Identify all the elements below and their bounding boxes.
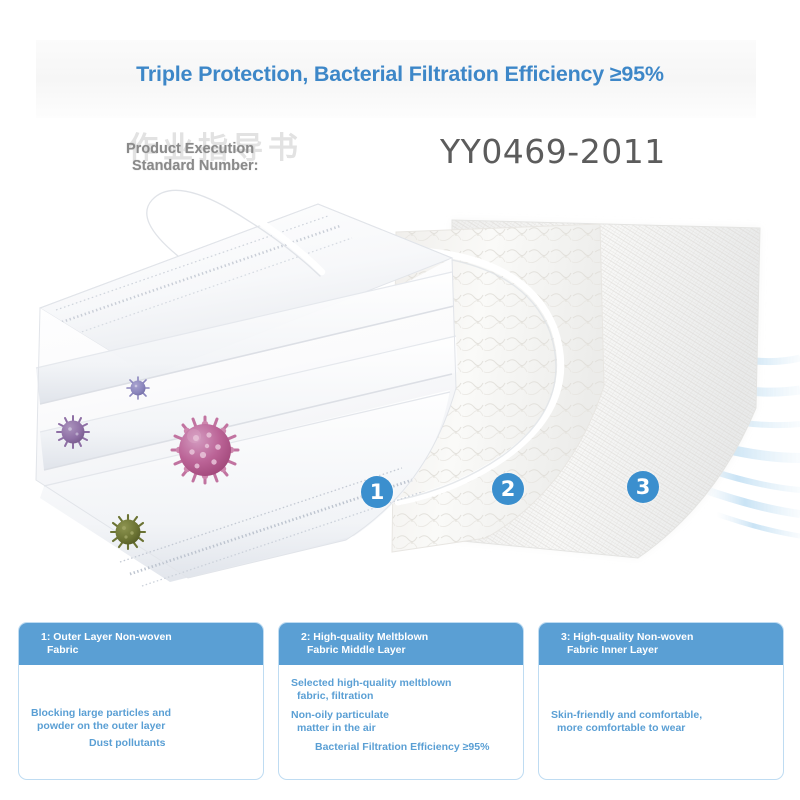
box-2-text-block-2: Non-oily particulate matter in the air — [291, 709, 389, 734]
box-2-text-2a: Non-oily particulate — [291, 709, 389, 721]
layer-marker-1: 1 — [361, 476, 393, 508]
layer-info-box-1-body: Blocking large particles and powder on t… — [19, 665, 263, 779]
virus-particle-small-violet — [127, 377, 149, 399]
infographic-page: Triple Protection, Bacterial Filtration … — [0, 0, 800, 800]
page-title: Triple Protection, Bacterial Filtration … — [0, 62, 800, 87]
box-2-text-block-3: Bacterial Filtration Efficiency ≥95% — [315, 741, 489, 754]
layer-info-box-3-heading: 3: High-quality Non-woven Fabric Inner L… — [539, 623, 783, 665]
box-1-text-block-2: Dust pollutants — [89, 737, 165, 750]
standard-number-label-line2: Standard Number: — [126, 158, 346, 175]
box-1-text-1b: powder on the outer layer — [31, 720, 171, 733]
box-3-heading-line1: 3: High-quality Non-woven — [561, 631, 693, 643]
box-1-text-1a: Blocking large particles and — [31, 707, 171, 719]
box-3-heading-line2: Fabric Inner Layer — [561, 644, 773, 657]
layer-info-box-2-heading: 2: High-quality Meltblown Fabric Middle … — [279, 623, 523, 665]
box-2-text-1a: Selected high-quality meltblown — [291, 677, 451, 689]
box-2-heading-line2: Fabric Middle Layer — [301, 644, 513, 657]
box-3-text-1b: more comfortable to wear — [551, 722, 702, 735]
box-1-text-block-1: Blocking large particles and powder on t… — [31, 707, 171, 732]
layer-info-box-2: 2: High-quality Meltblown Fabric Middle … — [278, 622, 524, 780]
box-3-text-block-1: Skin-friendly and comfortable, more comf… — [551, 709, 702, 734]
layer-info-box-3-body: Skin-friendly and comfortable, more comf… — [539, 665, 783, 779]
box-1-heading-line2: Fabric — [41, 644, 253, 657]
box-2-text-1b: fabric, filtration — [291, 690, 451, 703]
box-2-heading-line1: 2: High-quality Meltblown — [301, 631, 428, 643]
layer-info-box-3: 3: High-quality Non-woven Fabric Inner L… — [538, 622, 784, 780]
box-2-text-2b: matter in the air — [291, 722, 389, 735]
box-1-heading-line1: 1: Outer Layer Non-woven — [41, 631, 172, 643]
box-3-text-1a: Skin-friendly and comfortable, — [551, 709, 702, 721]
standard-number-label: Product Execution Standard Number: — [126, 141, 346, 175]
layer-info-boxes: 1: Outer Layer Non-woven Fabric Blocking… — [18, 622, 784, 780]
layer-marker-3: 3 — [627, 471, 659, 503]
layer-info-box-1: 1: Outer Layer Non-woven Fabric Blocking… — [18, 622, 264, 780]
mask-illustration — [0, 180, 800, 610]
mask-illustration-svg — [0, 180, 800, 610]
box-2-text-block-1: Selected high-quality meltblown fabric, … — [291, 677, 451, 702]
layer-info-box-2-body: Selected high-quality meltblown fabric, … — [279, 665, 523, 779]
layer-info-box-1-heading: 1: Outer Layer Non-woven Fabric — [19, 623, 263, 665]
standard-number-label-line1: Product Execution — [126, 141, 254, 157]
layer-marker-2: 2 — [492, 473, 524, 505]
standard-number-value: YY0469-2011 — [440, 132, 666, 171]
